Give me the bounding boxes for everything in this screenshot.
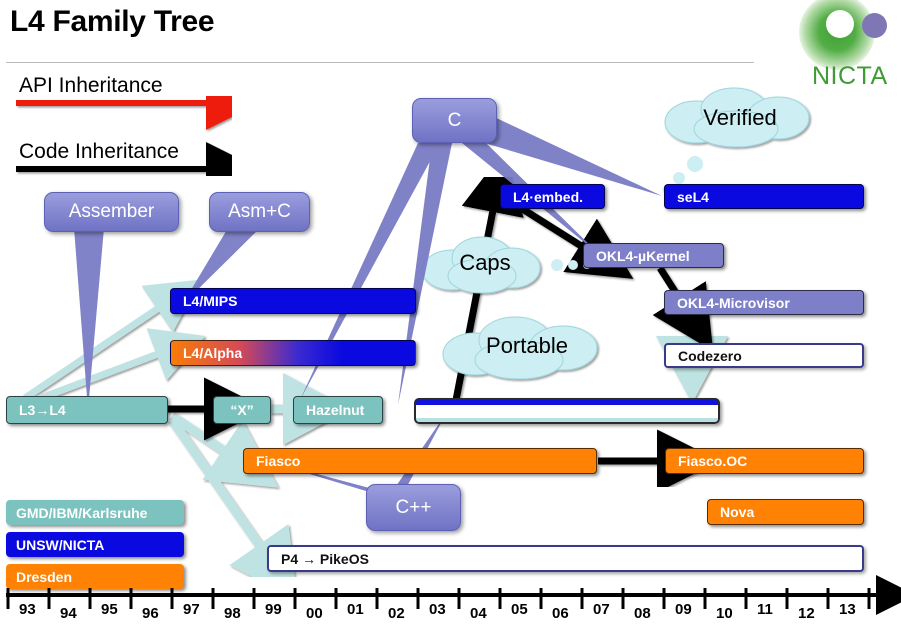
callout-cpp[interactable]: C++ bbox=[366, 484, 461, 531]
callout-assember[interactable]: Assember bbox=[44, 192, 179, 232]
callout-label: C bbox=[448, 110, 462, 132]
callout-c[interactable]: C bbox=[412, 98, 497, 143]
callout-label: Asm+C bbox=[228, 201, 291, 223]
timeline-axis bbox=[0, 0, 901, 631]
slide-canvas: L4 Family Tree NICTA API Inheritance Cod… bbox=[0, 0, 901, 631]
callout-label: Assember bbox=[69, 201, 155, 223]
callout-asm-plus-c[interactable]: Asm+C bbox=[209, 192, 310, 232]
callout-label: C++ bbox=[396, 497, 432, 519]
